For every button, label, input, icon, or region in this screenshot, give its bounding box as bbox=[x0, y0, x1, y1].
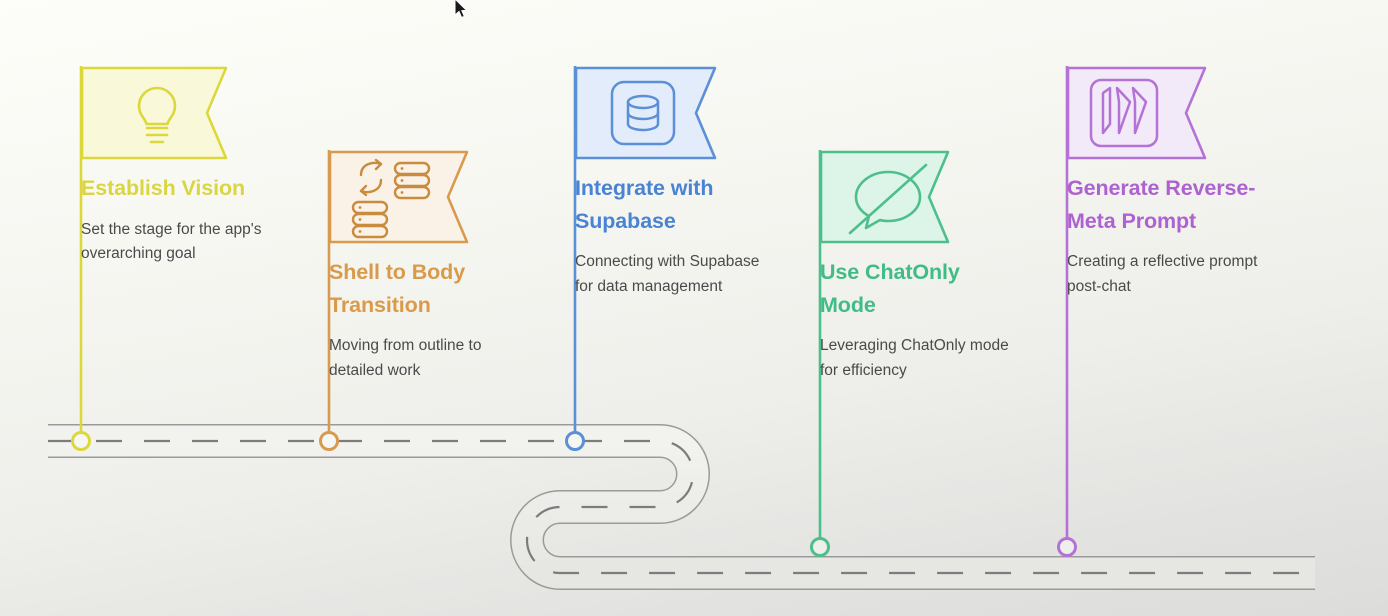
flag-4 bbox=[820, 150, 970, 246]
milestone-marker-5[interactable] bbox=[1059, 539, 1076, 556]
milestone-title: Generate Reverse-Meta Prompt bbox=[1067, 172, 1267, 237]
roadmap-diagram: Establish Vision Set the stage for the a… bbox=[0, 0, 1388, 616]
milestone-generate-reverse-meta-prompt[interactable]: Generate Reverse-Meta Prompt Creating a … bbox=[1067, 66, 1267, 299]
milestone-description: Leveraging ChatOnly mode for efficiency bbox=[820, 334, 1012, 383]
milestone-marker-3[interactable] bbox=[567, 433, 584, 450]
road-surface bbox=[48, 441, 1315, 573]
milestone-description: Set the stage for the app's overarching … bbox=[81, 218, 273, 267]
milestone-marker-1[interactable] bbox=[73, 433, 90, 450]
milestone-title: Establish Vision bbox=[81, 172, 271, 205]
milestone-marker-2[interactable] bbox=[321, 433, 338, 450]
milestone-use-chatonly-mode[interactable]: Use ChatOnly Mode Leveraging ChatOnly mo… bbox=[820, 150, 1012, 383]
milestone-integrate-with-supabase[interactable]: Integrate with Supabase Connecting with … bbox=[575, 66, 767, 299]
milestone-marker-4[interactable] bbox=[812, 539, 829, 556]
milestone-title: Use ChatOnly Mode bbox=[820, 256, 1010, 321]
milestone-shell-to-body-transition[interactable]: Shell to Body Transition Moving from out… bbox=[329, 150, 521, 383]
milestone-description: Moving from outline to detailed work bbox=[329, 334, 521, 383]
milestone-description: Connecting with Supabase for data manage… bbox=[575, 250, 767, 299]
milestone-title: Integrate with Supabase bbox=[575, 172, 765, 237]
flag-5 bbox=[1067, 66, 1217, 162]
milestone-description: Creating a reflective prompt post-chat bbox=[1067, 250, 1267, 299]
flag-2 bbox=[329, 150, 479, 246]
flag-3 bbox=[575, 66, 725, 162]
milestone-title: Shell to Body Transition bbox=[329, 256, 519, 321]
flag-1 bbox=[81, 66, 231, 162]
milestone-establish-vision[interactable]: Establish Vision Set the stage for the a… bbox=[81, 66, 273, 267]
